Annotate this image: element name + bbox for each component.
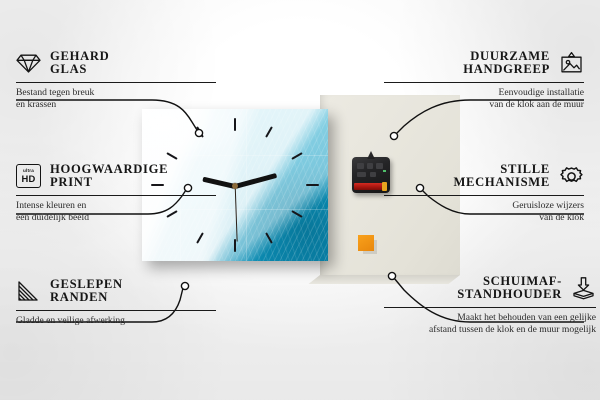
feature-title-line-1: GEHARD [50, 50, 109, 63]
press-down-spacer-icon [571, 276, 596, 301]
feature-desc-line-1: Geruisloze wijzers [384, 200, 584, 213]
feature-description: Bestand tegen breuk en krassen [16, 87, 206, 112]
feature-title-line-1: STILLE [453, 163, 550, 176]
feature-desc-line-1: Intense kleuren en [16, 200, 206, 213]
feature-duurzame-handgreep: DUURZAME HANDGREEP Eenvoudige installati… [384, 50, 584, 112]
feature-desc-line-2: van de klok aan de muur [384, 99, 584, 112]
feature-description: Geruisloze wijzers van de klok [384, 200, 584, 225]
feature-desc-line-1: Maakt het behouden van een gelijke [384, 312, 596, 325]
feature-stille-mechanisme: STILLE MECHANISME Geruisloze wijzers van… [384, 163, 584, 225]
feature-title-line-1: HOOGWAARDIGE [50, 163, 168, 176]
feature-desc-line-2: afstand tussen de klok en de muur mogeli… [384, 324, 596, 337]
battery [354, 183, 386, 190]
divider [384, 195, 584, 196]
feature-schuimafstandhouder: SCHUIMAF- STANDHOUDER Maakt het behouden… [384, 275, 596, 337]
feature-title-line-1: SCHUIMAF- [457, 275, 562, 288]
feature-desc-line-2: van de klok [384, 212, 584, 225]
feature-description: Gladde en veilige afwerking [16, 315, 206, 328]
divider [16, 310, 216, 311]
feature-title-line-1: DUURZAME [463, 50, 550, 63]
feature-title: HOOGWAARDIGE PRINT [50, 163, 168, 190]
divider [16, 82, 216, 83]
ultra-hd-icon: ultra HD [16, 164, 41, 189]
feature-title-line-1: GESLEPEN [50, 278, 123, 291]
feature-description: Eenvoudige installatie van de klok aan d… [384, 87, 584, 112]
feature-title: GEHARD GLAS [50, 50, 109, 77]
diamond-icon [16, 51, 41, 76]
divider [16, 195, 216, 196]
feature-desc-line-2: en krassen [16, 99, 206, 112]
feature-description: Intense kleuren en een duidelijk beeld [16, 200, 206, 225]
feature-hoogwaardige-print: ultra HD HOOGWAARDIGE PRINT Intense kleu… [16, 163, 216, 225]
feature-gehard-glas: GEHARD GLAS Bestand tegen breuk en krass… [16, 50, 216, 112]
feature-desc-line-1: Gladde en veilige afwerking [16, 315, 206, 328]
hands-hub [232, 183, 238, 189]
divider [384, 82, 584, 83]
feature-desc-line-1: Eenvoudige installatie [384, 87, 584, 100]
feature-desc-line-1: Bestand tegen breuk [16, 87, 206, 100]
feature-title-line-2: GLAS [50, 63, 109, 76]
feature-title-line-2: HANDGREEP [463, 63, 550, 76]
feature-title-line-2: RANDEN [50, 291, 123, 304]
hd-label: HD [22, 174, 36, 183]
feature-title-line-2: PRINT [50, 176, 168, 189]
feature-title: GESLEPEN RANDEN [50, 278, 123, 305]
feature-desc-line-2: een duidelijk beeld [16, 212, 206, 225]
infographic-canvas: GEHARD GLAS Bestand tegen breuk en krass… [0, 0, 600, 400]
bevelled-edge-icon [16, 279, 41, 304]
feature-title: STILLE MECHANISME [453, 163, 550, 190]
gear-icon [559, 164, 584, 189]
feature-title: SCHUIMAF- STANDHOUDER [457, 275, 562, 302]
feature-title-line-2: STANDHOUDER [457, 288, 562, 301]
hanging-picture-icon [559, 51, 584, 76]
divider [384, 307, 596, 308]
feature-title: DUURZAME HANDGREEP [463, 50, 550, 77]
feature-title-line-2: MECHANISME [453, 176, 550, 189]
foam-spacer [358, 235, 374, 251]
feature-description: Maakt het behouden van een gelijke afsta… [384, 312, 596, 337]
feature-geslepen-randen: GESLEPEN RANDEN Gladde en veilige afwerk… [16, 278, 216, 327]
